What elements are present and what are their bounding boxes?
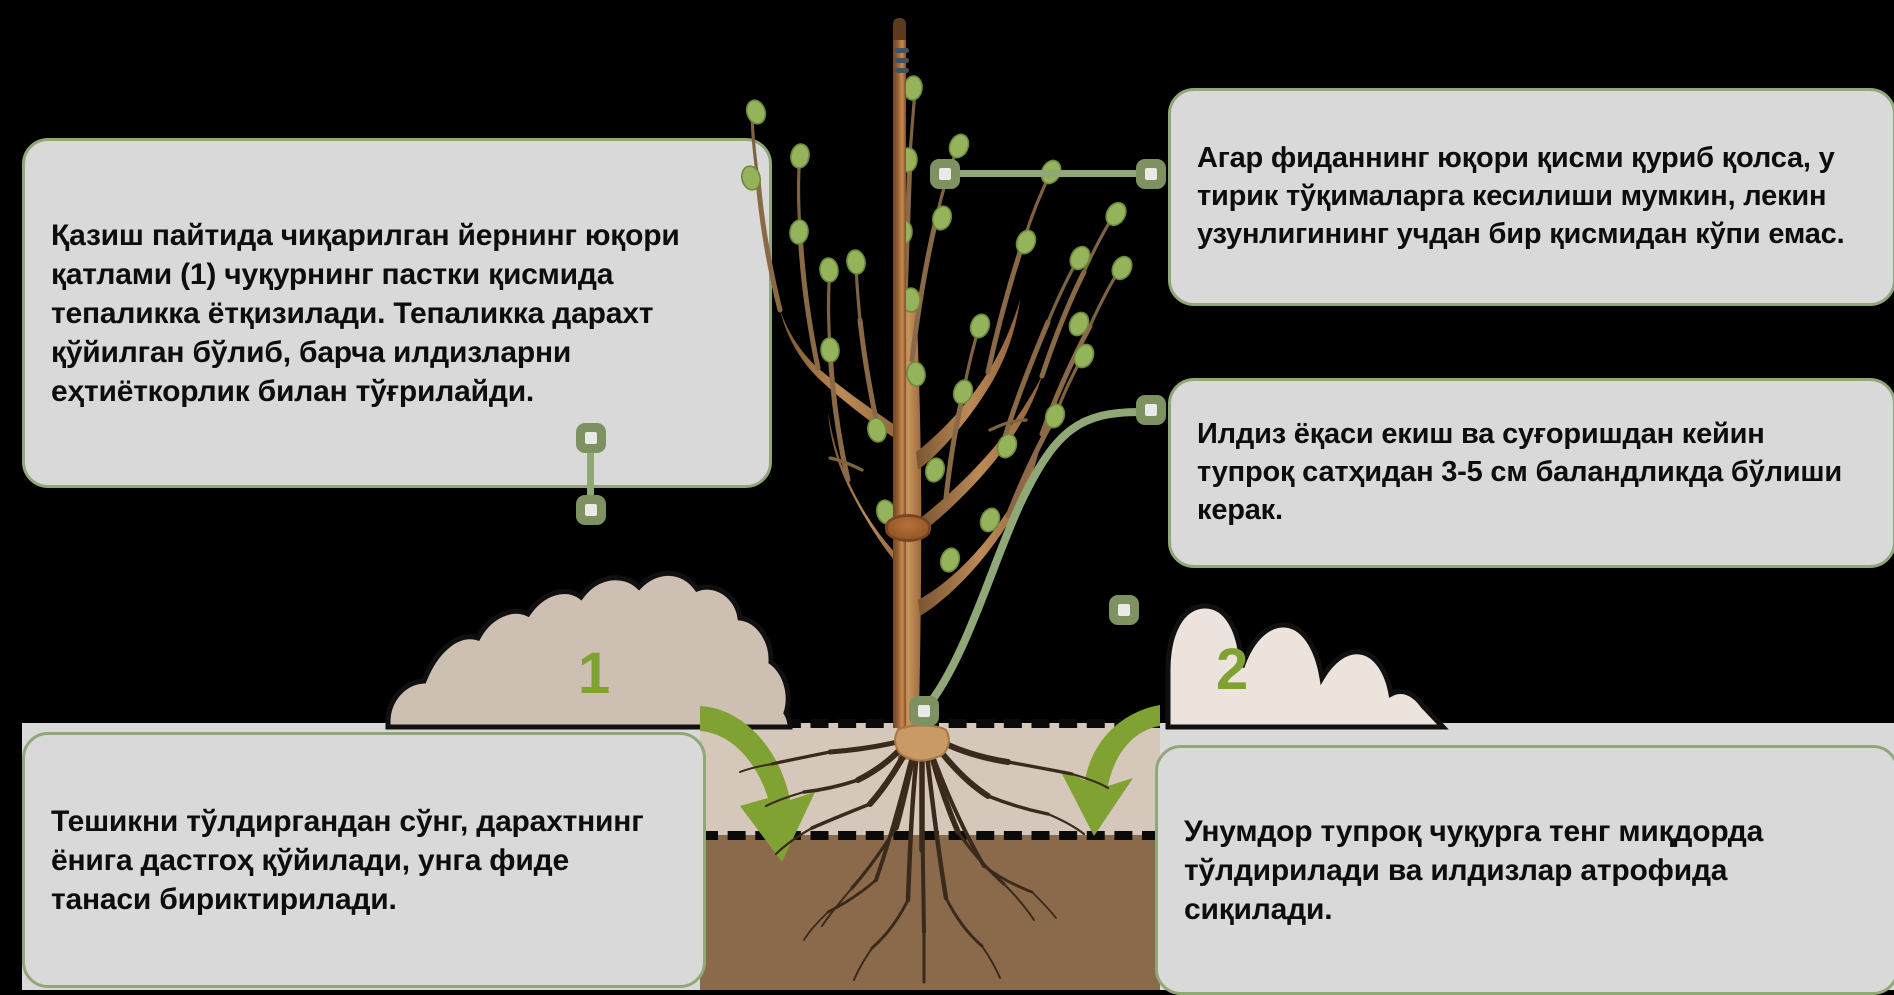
leader-lines-layer (0, 0, 1894, 990)
connector-node-icon[interactable] (930, 159, 960, 189)
connector-node-icon[interactable] (1109, 595, 1139, 625)
diagram-canvas: 1 2 (0, 0, 1894, 990)
connector-node-icon[interactable] (909, 696, 939, 726)
connector-node-icon[interactable] (1136, 159, 1166, 189)
leader-curve-root-collar (926, 412, 1140, 708)
leader-line-pruning (944, 170, 1149, 177)
connector-node-icon[interactable] (576, 423, 606, 453)
connector-node-icon[interactable] (576, 495, 606, 525)
connector-node-icon[interactable] (1136, 395, 1166, 425)
